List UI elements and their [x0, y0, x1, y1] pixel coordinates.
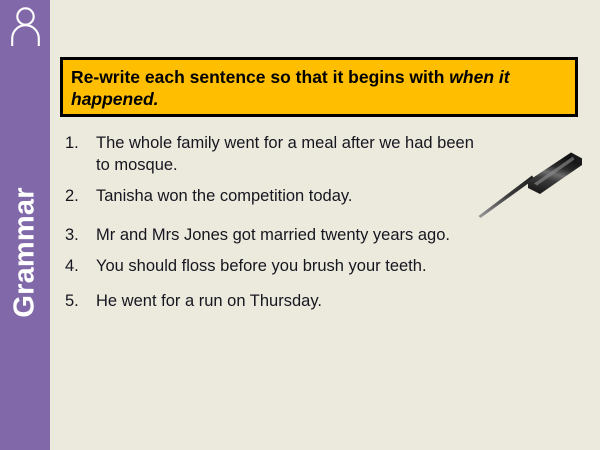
- list-item-number: 5.: [62, 291, 96, 313]
- list-item-text: Mr and Mrs Jones got married twenty year…: [96, 225, 506, 247]
- spacer: [62, 208, 562, 225]
- sidebar: Grammar: [0, 0, 50, 450]
- instruction-text-plain: Re-write each sentence so that it begins…: [71, 67, 449, 87]
- list-item: 5. He went for a run on Thursday.: [62, 291, 562, 313]
- instruction-banner: Re-write each sentence so that it begins…: [60, 57, 578, 117]
- spacer: [62, 247, 562, 256]
- list-item-number: 2.: [62, 186, 96, 208]
- spacer: [62, 278, 562, 291]
- list-item: 2. Tanisha won the competition today.: [62, 186, 562, 208]
- list-item: 4. You should floss before you brush you…: [62, 256, 562, 278]
- spacer: [62, 177, 562, 186]
- sidebar-title-container: Grammar: [0, 55, 50, 450]
- list-item-text: He went for a run on Thursday.: [96, 291, 562, 313]
- list-item-text: You should floss before you brush your t…: [96, 256, 562, 278]
- slide-canvas: Grammar Re-write each sentence so that i…: [0, 0, 600, 450]
- list-item: 1. The whole family went for a meal afte…: [62, 133, 562, 177]
- list-item-number: 4.: [62, 256, 96, 278]
- list-item-text: The whole family went for a meal after w…: [96, 133, 488, 177]
- instruction-banner-text: Re-write each sentence so that it begins…: [71, 66, 569, 111]
- list-item-number: 1.: [62, 133, 96, 155]
- person-icon: [9, 6, 42, 46]
- list-item: 3. Mr and Mrs Jones got married twenty y…: [62, 225, 562, 247]
- list-item-text: Tanisha won the competition today.: [96, 186, 562, 208]
- sentence-list: 1. The whole family went for a meal afte…: [62, 133, 562, 313]
- list-item-number: 3.: [62, 225, 96, 247]
- sidebar-title: Grammar: [9, 187, 42, 317]
